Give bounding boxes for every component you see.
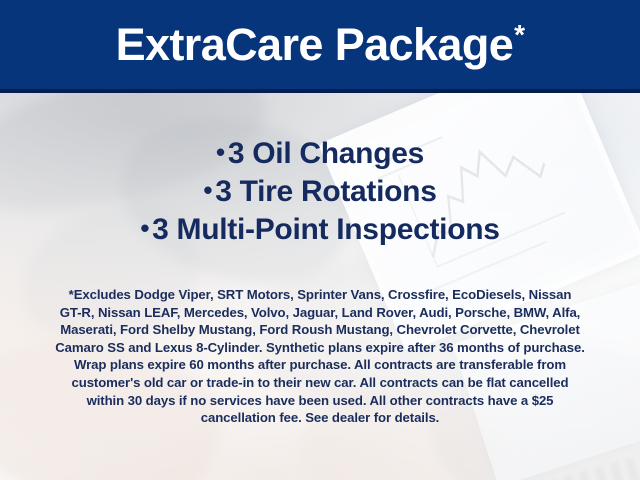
header-divider [0,89,640,93]
page-title: ExtraCare Package* [116,22,525,67]
list-item: •3 Tire Rotations [0,172,640,210]
bullet-dot-icon: • [203,175,212,205]
disclaimer-text: *Excludes Dodge Viper, SRT Motors, Sprin… [28,286,612,427]
disclaimer-line: *Excludes Dodge Viper, SRT Motors, Sprin… [28,286,612,304]
disclaimer-line: cancellation fee. See dealer for details… [28,409,612,427]
list-item-label: 3 Tire Rotations [215,175,436,208]
list-item-label: 3 Multi-Point Inspections [152,213,500,246]
header-banner: ExtraCare Package* [0,0,640,89]
disclaimer-line: Camaro SS and Lexus 8-Cylinder. Syntheti… [28,339,612,357]
benefits-list: •3 Oil Changes •3 Tire Rotations •3 Mult… [0,134,640,248]
list-item-label: 3 Oil Changes [228,137,424,170]
disclaimer-line: customer's old car or trade-in to their … [28,374,612,392]
disclaimer-line: Wrap plans expire 60 months after purcha… [28,356,612,374]
disclaimer-line: Maserati, Ford Shelby Mustang, Ford Rous… [28,321,612,339]
page-title-text: ExtraCare Package [116,19,514,70]
page-title-asterisk: * [514,19,524,50]
list-item: •3 Oil Changes [0,134,640,172]
list-item: •3 Multi-Point Inspections [0,210,640,248]
disclaimer-line: GT-R, Nissan LEAF, Mercedes, Volvo, Jagu… [28,304,612,322]
bullet-dot-icon: • [140,213,149,243]
disclaimer-line: within 30 days if no services have been … [28,392,612,410]
extracare-package-ad: ExtraCare Package* •3 Oil Changes •3 Tir… [0,0,640,480]
bullet-dot-icon: • [216,137,225,167]
